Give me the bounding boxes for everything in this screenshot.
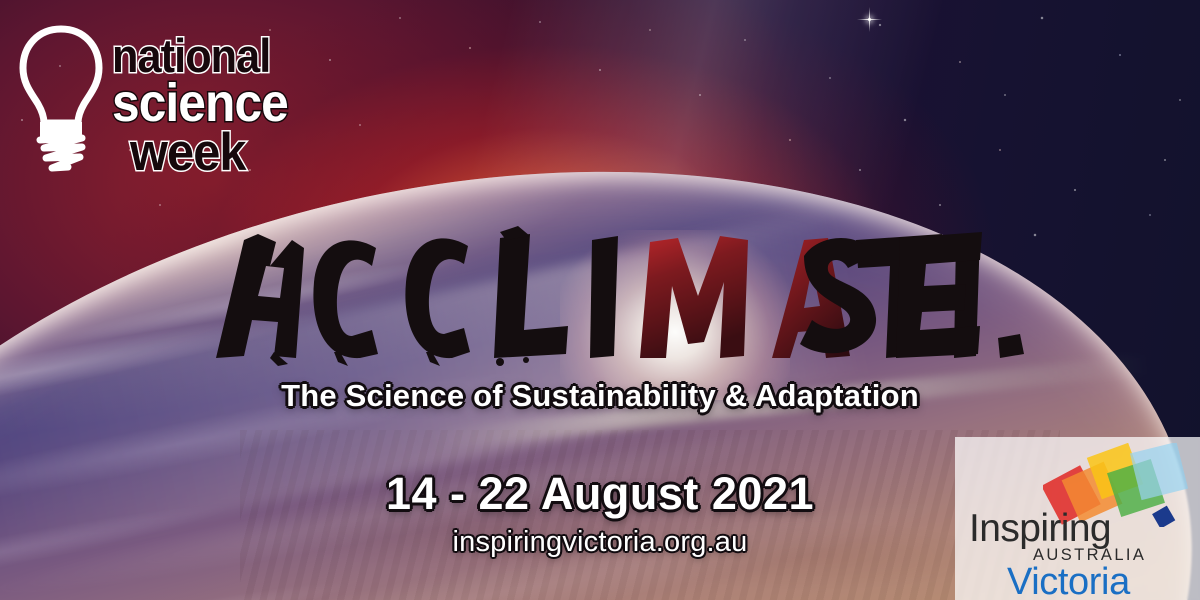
- science-week-banner: national science week: [0, 0, 1200, 600]
- headline-acclimatise: [0, 226, 1200, 366]
- logo-word-week: week: [130, 126, 246, 179]
- national-science-week-logo[interactable]: national science week: [12, 14, 282, 189]
- logo-word-science: science: [112, 76, 288, 130]
- inspiring-australia-victoria-logo[interactable]: Inspiring AUSTRALIA Victoria: [955, 437, 1200, 600]
- tagline-text: The Science of Sustainability & Adaptati…: [0, 378, 1200, 414]
- headline-letterforms-tail: [790, 226, 1030, 366]
- partner-word-inspiring: Inspiring: [969, 509, 1111, 548]
- lightbulb-icon: [18, 24, 104, 174]
- partner-word-victoria: Victoria: [1007, 563, 1130, 600]
- logo-word-national: national: [112, 32, 270, 79]
